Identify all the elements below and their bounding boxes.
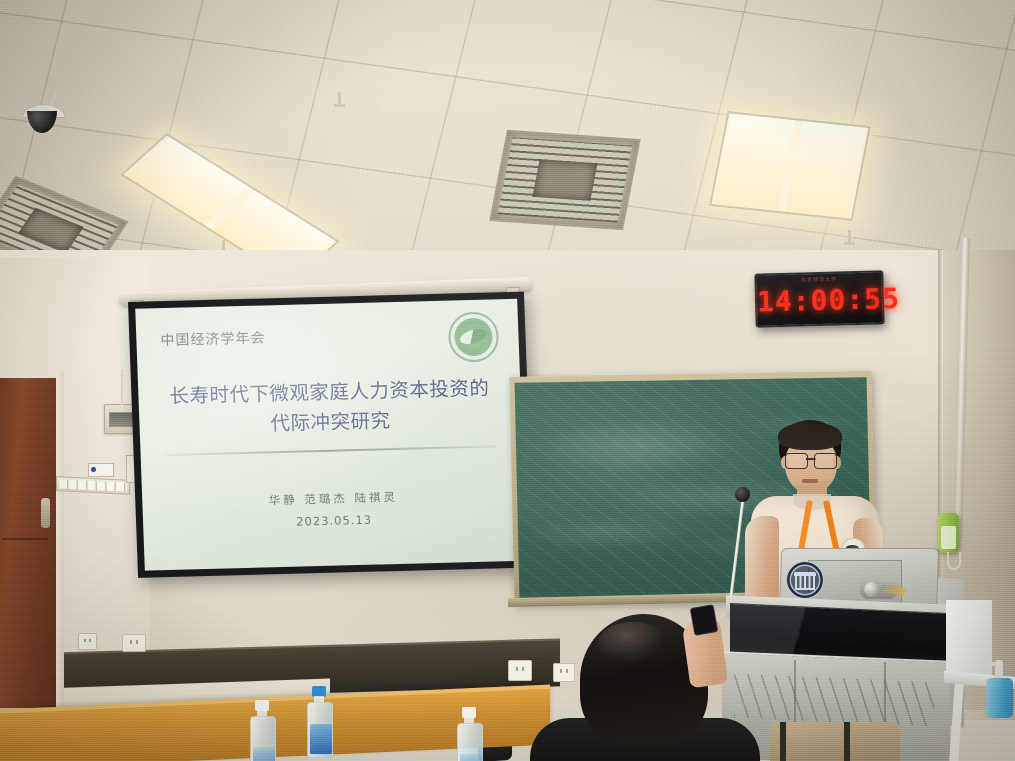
ceiling-hook	[848, 230, 851, 243]
slide-conference-name: 中国经济学年会	[160, 327, 266, 350]
tote-bag	[770, 722, 900, 761]
sanitizer-pump[interactable]	[995, 660, 1003, 680]
bottle-label	[310, 724, 332, 754]
security-camera-icon	[22, 104, 64, 130]
slide-authors: 华静 范璐杰 陆祺灵	[142, 486, 524, 512]
audience-member	[540, 604, 760, 761]
projector-screen: 中国经济学年会 长寿时代下微观家庭人力资本投资的代际冲突研究 华静 范璐杰 陆祺…	[128, 292, 534, 578]
ceiling-hook	[338, 92, 341, 105]
bag-strap	[780, 722, 786, 761]
classroom-door[interactable]	[0, 378, 61, 708]
vent-core	[533, 159, 597, 201]
water-bottle	[306, 686, 332, 756]
wall-mounted-phone[interactable]	[938, 513, 959, 553]
university-emblem-icon	[786, 561, 824, 599]
monitor-hinge-knob[interactable]	[864, 582, 879, 597]
bag-strap	[844, 722, 850, 761]
clock-time-display: 14:00:55	[757, 282, 883, 318]
presenter-fringe	[778, 422, 842, 450]
sanitizer-body	[986, 678, 1013, 718]
ceiling-light-right	[709, 111, 871, 221]
water-bottle	[249, 700, 275, 761]
presenter-mouth	[802, 479, 818, 483]
emblem-swoosh	[458, 326, 489, 347]
water-bottle	[456, 707, 482, 761]
bottle-body	[307, 702, 333, 758]
smartphone-icon	[690, 604, 718, 636]
hand-sanitizer-bottle	[986, 660, 1013, 718]
presentation-photo-scene: 中国经济学年会 长寿时代下微观家庭人力资本投资的代际冲突研究 华静 范璐杰 陆祺…	[0, 0, 1015, 761]
control-panel-cable	[121, 369, 123, 405]
digital-wall-clock: 北京师范大学 14:00:55	[754, 270, 884, 327]
door-frame	[56, 372, 64, 710]
camera-dome	[27, 111, 57, 133]
bottle-label	[460, 754, 482, 761]
door-panel-line	[2, 538, 48, 540]
stand-leg	[949, 684, 963, 761]
sign-dot-icon	[91, 467, 96, 472]
power-outlet	[78, 633, 97, 650]
presentation-slide: 中国经济学年会 长寿时代下微观家庭人力资本投资的代际冲突研究 华静 范璐杰 陆祺…	[135, 299, 526, 571]
slide-date: 2023.05.13	[143, 509, 525, 533]
phone-body	[941, 526, 956, 549]
audience-hair-highlight	[598, 622, 668, 666]
lectern-vent-slots	[734, 674, 934, 726]
slide-title: 长寿时代下微观家庭人力资本投资的代际冲突研究	[160, 373, 500, 441]
bottle-body	[250, 716, 276, 761]
glasses-lens-left	[785, 453, 808, 469]
bottle-body	[457, 723, 483, 761]
light-switch-keys[interactable]	[59, 479, 127, 492]
glasses-icon	[784, 453, 838, 467]
ac-vent-center	[489, 130, 640, 230]
power-outlet	[122, 634, 146, 652]
emblem-gate	[795, 576, 815, 590]
conference-emblem-icon	[448, 311, 500, 362]
slide-divider	[167, 445, 497, 455]
glasses-lens-right	[814, 453, 837, 469]
bottle-label	[253, 747, 275, 761]
power-outlet	[508, 660, 532, 681]
door-handle[interactable]	[41, 498, 50, 528]
wall-sign	[88, 463, 114, 477]
